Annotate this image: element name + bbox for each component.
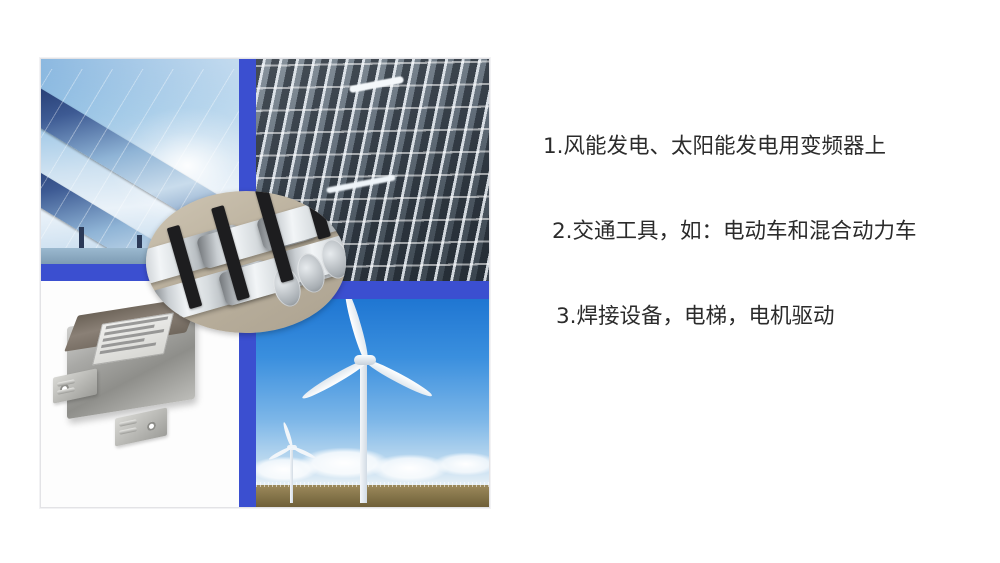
bullet-item-3: 3.焊接设备，电梯，电机驱动 — [556, 302, 970, 331]
collage-overlay-capacitor-cells — [146, 191, 346, 333]
bullet-item-2: 2.交通工具，如：电动车和混合动力车 — [552, 217, 970, 246]
wind-turbine-blade — [342, 299, 371, 362]
wind-turbine-blade — [364, 357, 434, 400]
wind-turbine-tower-distant — [290, 449, 293, 503]
slide-root: 1.风能发电、太阳能发电用变频器上 2.交通工具，如：电动车和混合动力车 3.焊… — [0, 0, 1000, 563]
emi-filter-mounting-flange — [115, 407, 167, 446]
bullet-item-1: 1.风能发电、太阳能发电用变频器上 — [543, 132, 970, 161]
bullet-list: 1.风能发电、太阳能发电用变频器上 2.交通工具，如：电动车和混合动力车 3.焊… — [500, 96, 970, 331]
image-collage — [40, 58, 490, 508]
collage-pane-wind-turbine — [256, 299, 489, 507]
wind-turbine-nacelle — [354, 355, 376, 365]
wind-turbine-tower — [360, 361, 367, 503]
